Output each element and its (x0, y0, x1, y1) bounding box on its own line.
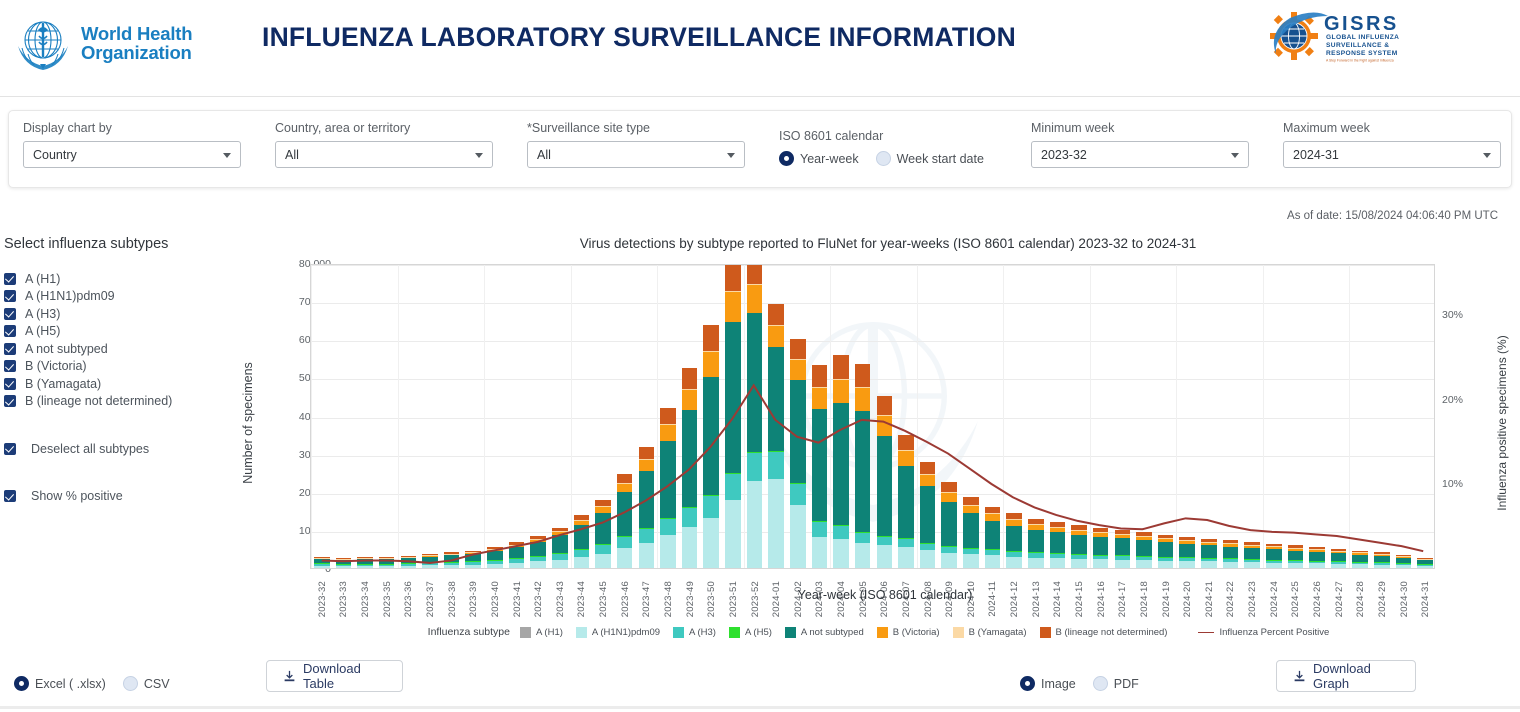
show-percent-positive-label: Show % positive (25, 489, 123, 503)
bar-segment (509, 568, 525, 569)
show-percent-positive-row[interactable]: Show % positive (0, 488, 250, 506)
chart-title: Virus detections by subtype reported to … (250, 236, 1520, 251)
legend-item-label: A not subtyped (801, 627, 864, 638)
bar-segment (898, 568, 914, 569)
bar-segment (1352, 568, 1368, 569)
checkbox-icon (4, 443, 16, 455)
bar-segment (1223, 568, 1239, 569)
bottom-divider (0, 706, 1520, 709)
legend-item[interactable]: B (Victoria) (877, 627, 940, 638)
filter-display-chart-by-label: Display chart by (23, 121, 241, 135)
bar-segment (1331, 568, 1347, 569)
legend-item[interactable]: A (H1N1)pdm09 (576, 627, 660, 638)
radio-week-start-date-dot (876, 151, 891, 166)
checkbox-icon (4, 308, 16, 320)
radio-excel-dot (14, 676, 29, 691)
chart-container: Virus detections by subtype reported to … (250, 236, 1520, 646)
bar-segment (1050, 568, 1066, 569)
subtype-panel-title: Select influenza subtypes (0, 236, 250, 252)
radio-year-week-label: Year-week (800, 152, 859, 166)
legend-items: A (H1)A (H1N1)pdm09A (H3)A (H5)A not sub… (520, 627, 1180, 638)
bar-segment (465, 568, 481, 569)
subtype-checkbox-row[interactable]: A (H1) (0, 270, 250, 288)
radio-image[interactable]: Image (1020, 676, 1076, 691)
bar-segment (617, 568, 633, 569)
chevron-down-icon (475, 153, 483, 158)
country-value: All (285, 148, 299, 162)
radio-image-label: Image (1041, 677, 1076, 691)
legend-item-label: B (lineage not determined) (1056, 627, 1168, 638)
checkbox-icon (4, 273, 16, 285)
download-table-button[interactable]: Download Table (266, 660, 403, 692)
filter-site-type: *Surveillance site type All (527, 121, 745, 168)
subtype-checkbox-row[interactable]: B (Victoria) (0, 358, 250, 376)
filter-min-week: Minimum week 2023-32 (1031, 121, 1249, 168)
radio-image-dot (1020, 676, 1035, 691)
color-swatch-icon (729, 627, 740, 638)
bar-segment (833, 568, 849, 569)
legend-item[interactable]: A (H1) (520, 627, 563, 638)
filter-max-week-label: Maximum week (1283, 121, 1501, 135)
bar-segment (941, 568, 957, 569)
graph-format-radio-group: Image PDF (1020, 676, 1149, 691)
filter-country: Country, area or territory All (275, 121, 493, 168)
x-axis-label: Year-week (ISO 8601 calendar) (250, 588, 1520, 602)
y-tick-right: 30% (1442, 309, 1486, 321)
subtype-checkbox-label: B (Yamagata) (25, 377, 101, 391)
bar-segment (1374, 568, 1390, 569)
gisrs-logo: GISRS GLOBAL INFLUENZA SURVEILLANCE & RE… (1262, 6, 1412, 68)
percent-positive-line (311, 265, 1434, 568)
bar-segment (1136, 568, 1152, 569)
who-logo: World Health Organization (12, 12, 192, 74)
bar-segment (1288, 568, 1304, 569)
subtype-filter-panel: Select influenza subtypes A (H1)A (H1N1)… (0, 236, 250, 505)
radio-pdf-dot (1093, 676, 1108, 691)
max-week-value: 2024-31 (1293, 148, 1339, 162)
legend-item-label: A (H3) (689, 627, 716, 638)
bar-segment (444, 568, 460, 569)
legend-item-label: A (H5) (745, 627, 772, 638)
bar-segment (963, 568, 979, 569)
site-type-select[interactable]: All (527, 141, 745, 168)
bar-segment (639, 568, 655, 569)
bar-segment (1244, 568, 1260, 569)
subtype-checkbox-row[interactable]: B (Yamagata) (0, 375, 250, 393)
legend-item[interactable]: A not subtyped (785, 627, 864, 638)
bar-segment (1158, 568, 1174, 569)
radio-year-week-dot (779, 151, 794, 166)
download-graph-label: Download Graph (1313, 661, 1399, 691)
radio-pdf[interactable]: PDF (1093, 676, 1139, 691)
line-swatch-icon (1198, 632, 1214, 633)
bar-segment (855, 568, 871, 569)
radio-year-week[interactable]: Year-week (779, 151, 859, 166)
page-header: World Health Organization INFLUENZA LABO… (0, 0, 1520, 96)
svg-text:SURVEILLANCE &: SURVEILLANCE & (1326, 42, 1389, 49)
filter-min-week-label: Minimum week (1031, 121, 1249, 135)
bar-segment (314, 568, 330, 569)
who-emblem-icon (12, 12, 74, 74)
table-format-radio-group: Excel ( .xlsx) CSV (14, 676, 180, 691)
svg-text:A Step Forward in the Fight ag: A Step Forward in the Fight against Infl… (1326, 59, 1394, 63)
chevron-down-icon (223, 153, 231, 158)
bar-segment (1266, 568, 1282, 569)
bar-segment (422, 568, 438, 569)
chevron-down-icon (1483, 153, 1491, 158)
subtype-checkbox-label: A (H1N1)pdm09 (25, 289, 115, 303)
legend-item-label: A (H1N1)pdm09 (592, 627, 660, 638)
bottom-toolbar: Excel ( .xlsx) CSV Download Table Image … (0, 655, 1520, 712)
subtype-checkbox-label: B (Victoria) (25, 359, 87, 373)
display-chart-by-value: Country (33, 148, 77, 162)
filter-bar: Display chart by Country Country, area o… (8, 110, 1512, 188)
radio-csv-label: CSV (144, 677, 170, 691)
bar-segment (1093, 568, 1109, 569)
chevron-down-icon (727, 153, 735, 158)
filter-iso-calendar-label: ISO 8601 calendar (779, 129, 994, 143)
site-type-value: All (537, 148, 551, 162)
plot-area (310, 264, 1435, 569)
header-divider (0, 96, 1520, 97)
color-swatch-icon (673, 627, 684, 638)
bar-segment (574, 568, 590, 569)
who-line2: Organization (81, 43, 192, 62)
svg-text:GISRS: GISRS (1324, 13, 1399, 35)
chart-legend: Influenza subtype A (H1)A (H1N1)pdm09A (… (250, 626, 1520, 638)
radio-csv[interactable]: CSV (123, 676, 170, 691)
legend-title: Influenza subtype (428, 626, 510, 638)
subtype-checkbox-row[interactable]: A (H5) (0, 323, 250, 341)
iso-calendar-radio-group: Year-week Week start date (779, 151, 994, 166)
radio-week-start-date-label: Week start date (897, 152, 984, 166)
bar-segment (877, 568, 893, 569)
legend-item[interactable]: A (H5) (729, 627, 772, 638)
bar-segment (552, 568, 568, 569)
subtype-checkbox-label: B (lineage not determined) (25, 394, 172, 408)
radio-csv-dot (123, 676, 138, 691)
legend-item-label: B (Victoria) (893, 627, 940, 638)
radio-excel[interactable]: Excel ( .xlsx) (14, 676, 106, 691)
subtype-checkbox-list: A (H1)A (H1N1)pdm09A (H3)A (H5)A not sub… (0, 270, 250, 410)
legend-item[interactable]: B (lineage not determined) (1040, 627, 1168, 638)
bar-segment (1201, 568, 1217, 569)
radio-week-start-date[interactable]: Week start date (876, 151, 984, 166)
country-select[interactable]: All (275, 141, 493, 168)
legend-item-label: A (H1) (536, 627, 563, 638)
percent-positive-path (322, 385, 1423, 563)
bar-segment (530, 568, 546, 569)
bar-segment (1179, 568, 1195, 569)
color-swatch-icon (520, 627, 531, 638)
legend-item[interactable]: A (H3) (673, 627, 716, 638)
svg-text:GLOBAL INFLUENZA: GLOBAL INFLUENZA (1326, 34, 1399, 41)
legend-item-percent-positive[interactable]: Influenza Percent Positive (1198, 627, 1329, 638)
max-week-select[interactable]: 2024-31 (1283, 141, 1501, 168)
color-swatch-icon (576, 627, 587, 638)
subtype-checkbox-row[interactable]: A not subtyped (0, 340, 250, 358)
checkbox-icon (4, 325, 16, 337)
filter-country-label: Country, area or territory (275, 121, 493, 135)
filter-site-type-label: *Surveillance site type (527, 121, 745, 135)
filter-display-chart-by: Display chart by Country (23, 121, 241, 168)
legend-percent-positive-label: Influenza Percent Positive (1219, 627, 1329, 638)
bar-segment (812, 568, 828, 569)
bar-segment (1028, 568, 1044, 569)
y-tick-right: 10% (1442, 478, 1486, 490)
radio-pdf-label: PDF (1114, 677, 1139, 691)
bar-segment (1417, 568, 1433, 569)
legend-item-label: B (Yamagata) (969, 627, 1027, 638)
who-wordmark: World Health Organization (81, 24, 192, 62)
download-graph-button[interactable]: Download Graph (1276, 660, 1416, 692)
bar-segment (985, 568, 1001, 569)
display-chart-by-select[interactable]: Country (23, 141, 241, 168)
chevron-down-icon (1231, 153, 1239, 158)
who-line1: World Health (81, 24, 192, 43)
checkbox-icon (4, 378, 16, 390)
subtype-checkbox-label: A not subtyped (25, 342, 108, 356)
download-icon (283, 670, 296, 683)
bar-segment (1115, 568, 1131, 569)
bar-segment (401, 568, 417, 569)
checkbox-icon (4, 343, 16, 355)
checkbox-icon (4, 290, 16, 302)
svg-text:RESPONSE SYSTEM: RESPONSE SYSTEM (1326, 50, 1398, 57)
y-tick-right: 20% (1442, 394, 1486, 406)
checkbox-icon (4, 395, 16, 407)
legend-item[interactable]: B (Yamagata) (953, 627, 1027, 638)
bar-segment (336, 568, 352, 569)
subtype-checkbox-row[interactable]: A (H1N1)pdm09 (0, 288, 250, 306)
min-week-value: 2023-32 (1041, 148, 1087, 162)
subtype-checkbox-label: A (H5) (25, 324, 60, 338)
subtype-checkbox-row[interactable]: A (H3) (0, 305, 250, 323)
color-swatch-icon (877, 627, 888, 638)
bar-segment (1309, 568, 1325, 569)
bar-segment (379, 568, 395, 569)
filter-max-week: Maximum week 2024-31 (1283, 121, 1501, 168)
bar-segment (1071, 568, 1087, 569)
page-title: INFLUENZA LABORATORY SURVEILLANCE INFORM… (262, 22, 1016, 53)
bar-segment (357, 568, 373, 569)
download-icon (1293, 670, 1306, 683)
y-axis-label-right: Influenza positive specimens (%) (1495, 335, 1509, 510)
color-swatch-icon (785, 627, 796, 638)
checkbox-icon (4, 490, 16, 502)
bar-segment (1396, 568, 1412, 569)
deselect-all-subtypes-row[interactable]: Deselect all subtypes (0, 440, 250, 458)
color-swatch-icon (953, 627, 964, 638)
bar-segment (1006, 568, 1022, 569)
bar-segment (920, 568, 936, 569)
subtype-checkbox-label: A (H3) (25, 307, 60, 321)
subtype-checkbox-row[interactable]: B (lineage not determined) (0, 393, 250, 411)
bar-segment (487, 568, 503, 569)
y-axis-label-left: Number of specimens (241, 362, 255, 484)
bar-segment (595, 568, 611, 569)
checkbox-icon (4, 360, 16, 372)
download-table-label: Download Table (303, 661, 386, 691)
radio-excel-label: Excel ( .xlsx) (35, 677, 106, 691)
min-week-select[interactable]: 2023-32 (1031, 141, 1249, 168)
deselect-all-subtypes-label: Deselect all subtypes (25, 442, 149, 456)
color-swatch-icon (1040, 627, 1051, 638)
as-of-date: As of date: 15/08/2024 04:06:40 PM UTC (1287, 210, 1498, 222)
filter-iso-calendar: ISO 8601 calendar Year-week Week start d… (779, 129, 994, 166)
subtype-checkbox-label: A (H1) (25, 272, 60, 286)
